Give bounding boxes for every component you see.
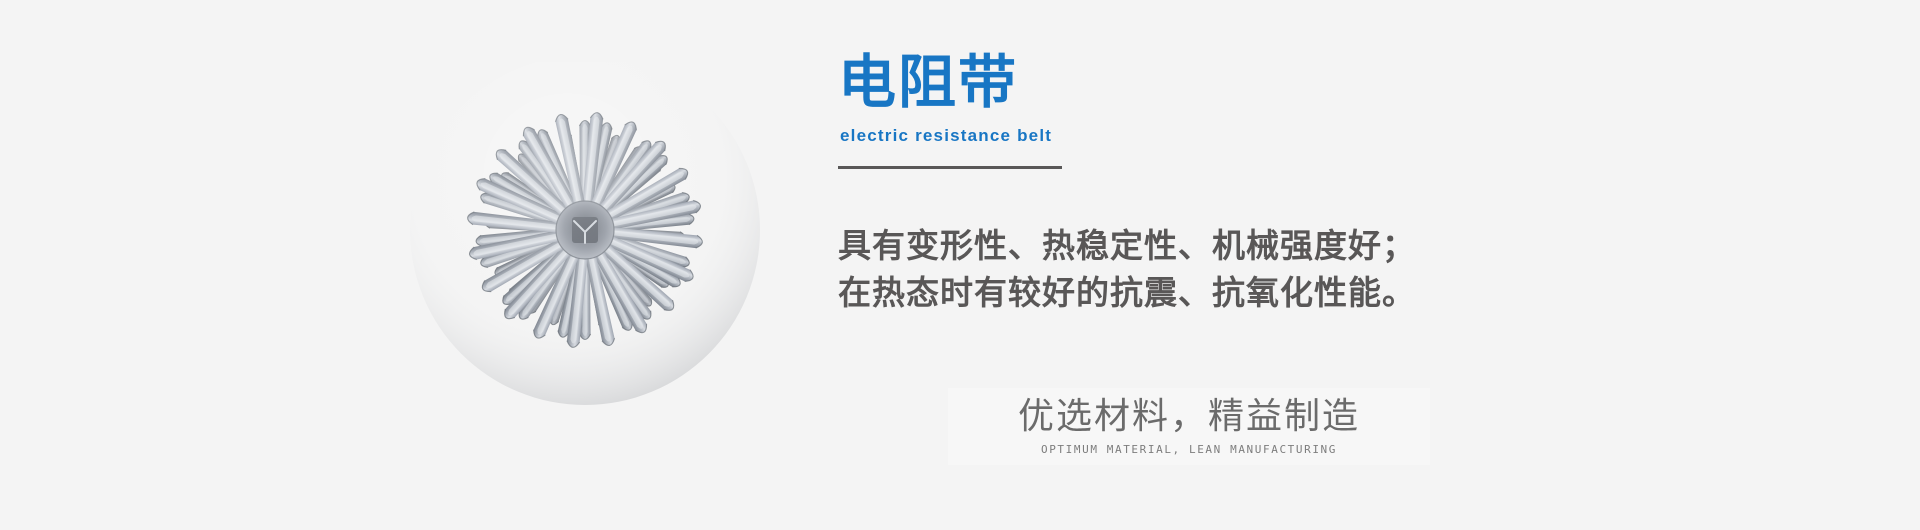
slogan-english: OPTIMUM MATERIAL, LEAN MANUFACTURING (964, 442, 1414, 457)
description-line-1: 具有变形性、热稳定性、机械强度好； (838, 222, 1538, 269)
slogan-block: 优选材料，精益制造 OPTIMUM MATERIAL, LEAN MANUFAC… (948, 388, 1430, 465)
page-subtitle: electric resistance belt (840, 126, 1458, 146)
banner-content: 电阻带 electric resistance belt 具有变形性、热稳定性、… (838, 0, 1838, 530)
product-banner: 电阻带 electric resistance belt 具有变形性、热稳定性、… (0, 0, 1920, 530)
description-block: 具有变形性、热稳定性、机械强度好； 在热态时有较好的抗震、抗氧化性能。 (838, 222, 1538, 316)
product-image (370, 62, 800, 412)
description-line-2: 在热态时有较好的抗震、抗氧化性能。 (838, 269, 1538, 316)
resistance-belt-illustration (370, 62, 800, 412)
title-divider (838, 166, 1062, 169)
product-image-stage (370, 62, 800, 412)
title-block: 电阻带 electric resistance belt (838, 52, 1458, 169)
slogan-chinese: 优选材料，精益制造 (964, 392, 1414, 440)
page-title: 电阻带 (838, 52, 1458, 114)
